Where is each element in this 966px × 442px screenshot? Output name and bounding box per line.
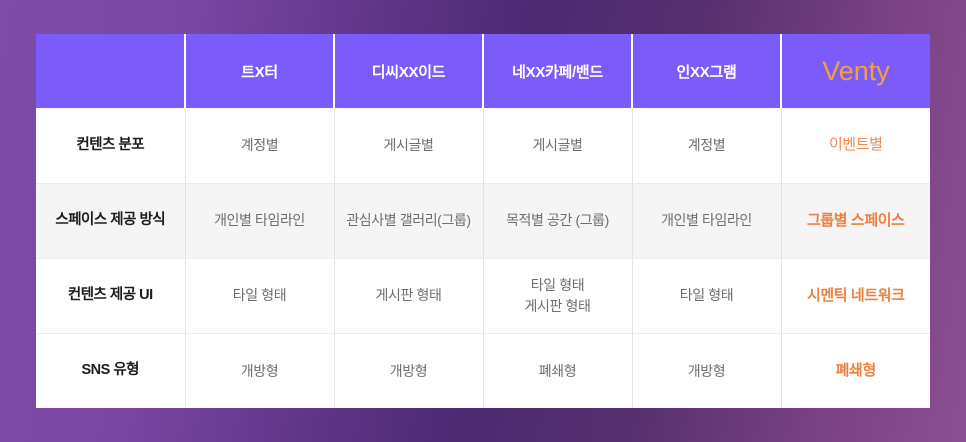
cell-twitter: 타일 형태 [185, 258, 334, 333]
cell-venty: 이벤트별 [781, 108, 930, 183]
cell-navercafe: 폐쇄형 [483, 333, 632, 408]
cell-navercafe: 게시글별 [483, 108, 632, 183]
header-cell-venty-brand: Venty [781, 34, 930, 108]
cell-venty: 폐쇄형 [781, 333, 930, 408]
slide-canvas: 트X터 디씨XX이드 네XX카페/밴드 인XX그램 Venty 컨텐츠 분포 계… [0, 0, 966, 442]
cell-instagram: 타일 형태 [632, 258, 781, 333]
cell-instagram: 개인별 타임라인 [632, 183, 781, 258]
cell-navercafe: 타일 형태게시판 형태 [483, 258, 632, 333]
row-label-sns-type: SNS 유형 [36, 333, 185, 408]
header-cell-instagram: 인XX그램 [632, 34, 781, 108]
cell-instagram: 계정별 [632, 108, 781, 183]
header-cell-navercafe: 네XX카페/밴드 [483, 34, 632, 108]
cell-twitter: 계정별 [185, 108, 334, 183]
table-header: 트X터 디씨XX이드 네XX카페/밴드 인XX그램 Venty [36, 34, 930, 108]
header-cell-twitter: 트X터 [185, 34, 334, 108]
cell-venty: 시멘틱 네트워크 [781, 258, 930, 333]
header-cell-corner [36, 34, 185, 108]
cell-dcinside: 게시판 형태 [334, 258, 483, 333]
cell-twitter: 개인별 타임라인 [185, 183, 334, 258]
cell-venty: 그룹별 스페이스 [781, 183, 930, 258]
cell-dcinside: 게시글별 [334, 108, 483, 183]
table-body: 컨텐츠 분포 계정별 게시글별 게시글별 계정별 이벤트별 스페이스 제공 방식… [36, 108, 930, 408]
cell-dcinside: 개방형 [334, 333, 483, 408]
header-cell-dcinside: 디씨XX이드 [334, 34, 483, 108]
header-row: 트X터 디씨XX이드 네XX카페/밴드 인XX그램 Venty [36, 34, 930, 108]
cell-instagram: 개방형 [632, 333, 781, 408]
row-label-content-distribution: 컨텐츠 분포 [36, 108, 185, 183]
cell-twitter: 개방형 [185, 333, 334, 408]
row-label-space-method: 스페이스 제공 방식 [36, 183, 185, 258]
table-row: SNS 유형 개방형 개방형 폐쇄형 개방형 폐쇄형 [36, 333, 930, 408]
table-row: 컨텐츠 분포 계정별 게시글별 게시글별 계정별 이벤트별 [36, 108, 930, 183]
cell-navercafe: 목적별 공간 (그룹) [483, 183, 632, 258]
cell-dcinside: 관심사별 갤러리(그룹) [334, 183, 483, 258]
table-row: 스페이스 제공 방식 개인별 타임라인 관심사별 갤러리(그룹) 목적별 공간 … [36, 183, 930, 258]
row-label-content-ui: 컨텐츠 제공 UI [36, 258, 185, 333]
table-row: 컨텐츠 제공 UI 타일 형태 게시판 형태 타일 형태게시판 형태 타일 형태… [36, 258, 930, 333]
comparison-table: 트X터 디씨XX이드 네XX카페/밴드 인XX그램 Venty 컨텐츠 분포 계… [36, 34, 930, 408]
